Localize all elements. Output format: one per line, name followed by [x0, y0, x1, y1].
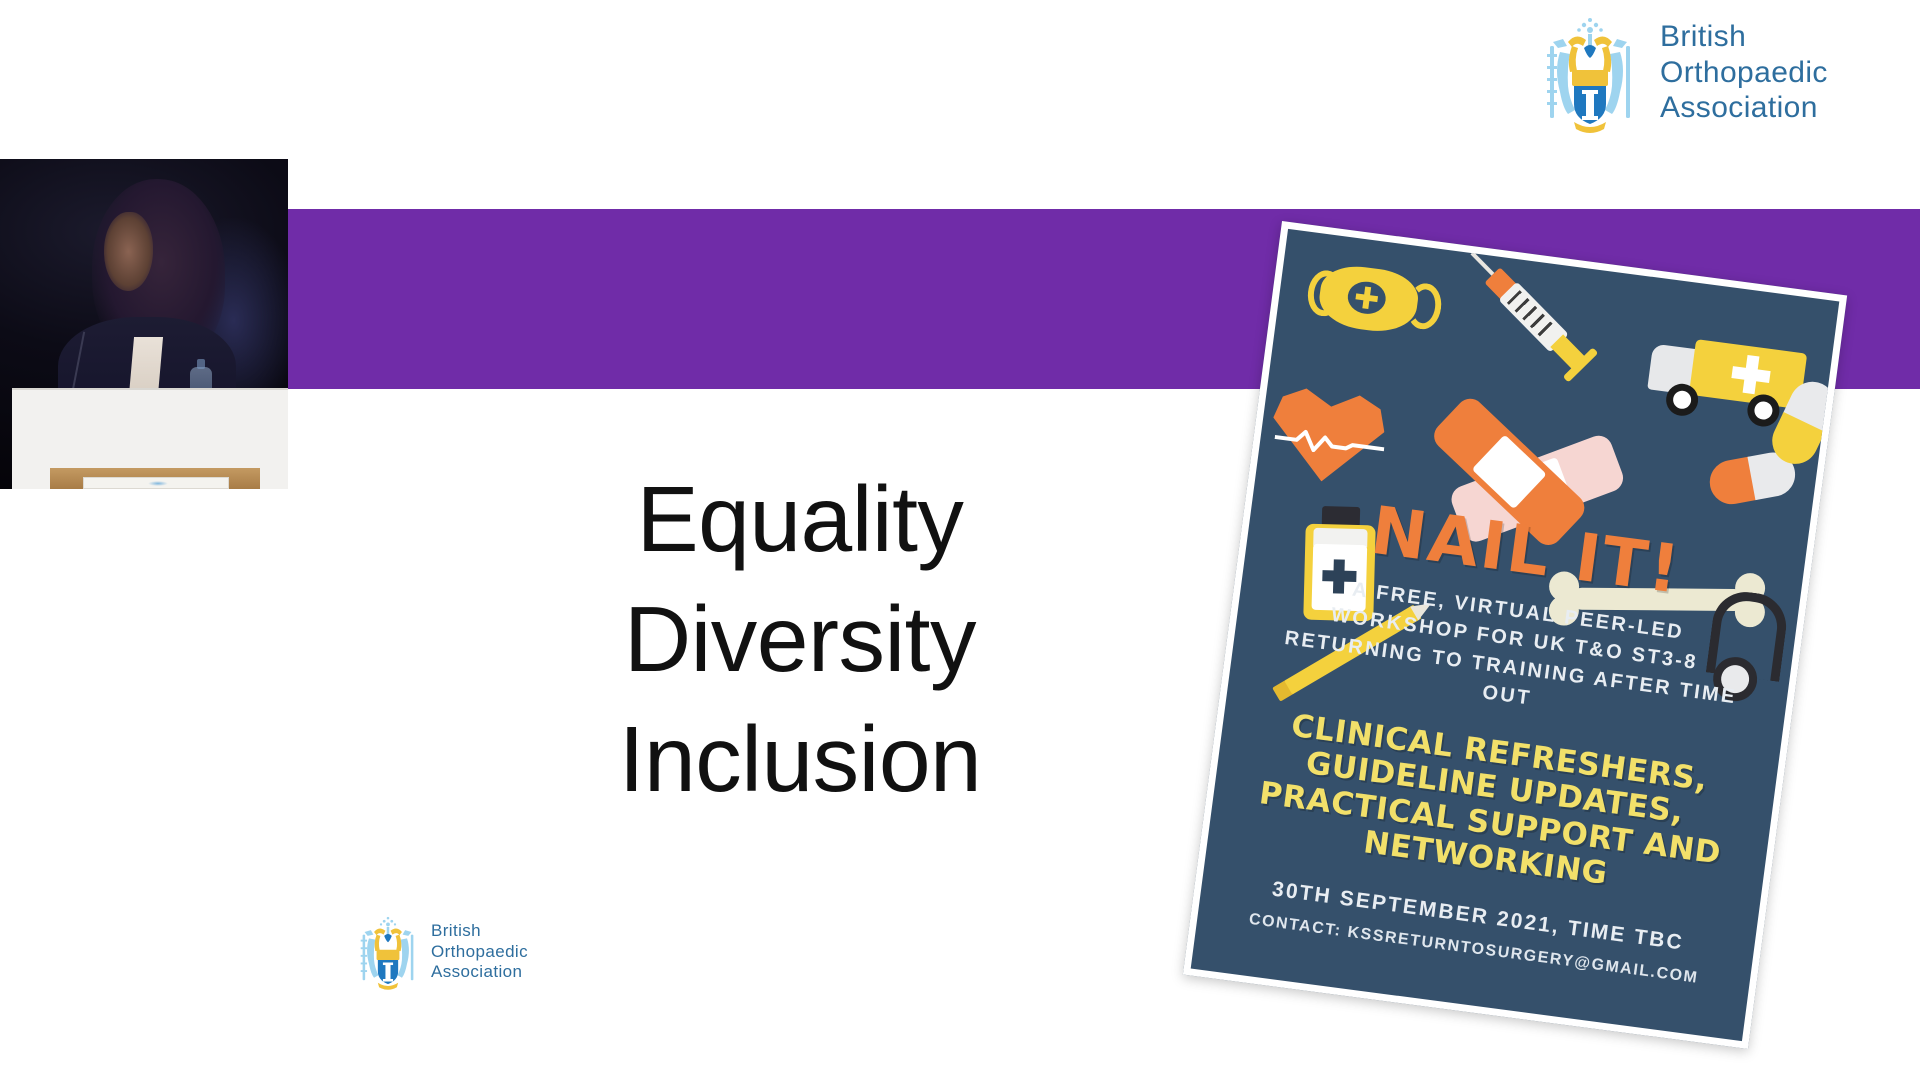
title-line-3: Inclusion — [560, 700, 1040, 820]
face-mask-icon — [1305, 255, 1432, 344]
lectern — [12, 388, 288, 489]
poster-text-block: NAIL IT! A FREE, VIRTUAL PEER-LED WORKSH… — [1197, 482, 1806, 995]
lectern-sign — [83, 477, 229, 489]
boa-crest-icon — [355, 913, 421, 991]
lectern-sign-emblem — [148, 481, 168, 486]
logo-line-2: Orthopaedic — [431, 942, 528, 962]
page-title: Equality Diversity Inclusion — [560, 460, 1040, 820]
boa-crest-icon — [1538, 12, 1642, 134]
presentation-slide: British Orthopaedic Association Equality… — [0, 0, 1920, 1080]
speaker-video-thumbnail[interactable] — [0, 159, 288, 489]
title-line-1: Equality — [560, 460, 1040, 580]
event-poster: NAIL IT! A FREE, VIRTUAL PEER-LED WORKSH… — [1183, 221, 1847, 1049]
title-line-2: Diversity — [560, 580, 1040, 700]
header-logo: British Orthopaedic Association — [1538, 10, 1898, 135]
logo-line-1: British — [1660, 19, 1828, 54]
heartbeat-icon — [1266, 369, 1397, 491]
logo-line-2: Orthopaedic — [1660, 55, 1828, 90]
speaker-face — [104, 212, 153, 291]
logo-line-1: British — [431, 921, 528, 941]
header-logo-text: British Orthopaedic Association — [1660, 19, 1828, 125]
poster-bullets: CLINICAL REFRESHERS, GUIDELINE UPDATES, … — [1235, 703, 1749, 910]
footer-logo: British Orthopaedic Association — [355, 912, 595, 992]
footer-logo-text: British Orthopaedic Association — [431, 921, 528, 982]
logo-line-3: Association — [1660, 90, 1828, 125]
logo-line-3: Association — [431, 962, 528, 982]
